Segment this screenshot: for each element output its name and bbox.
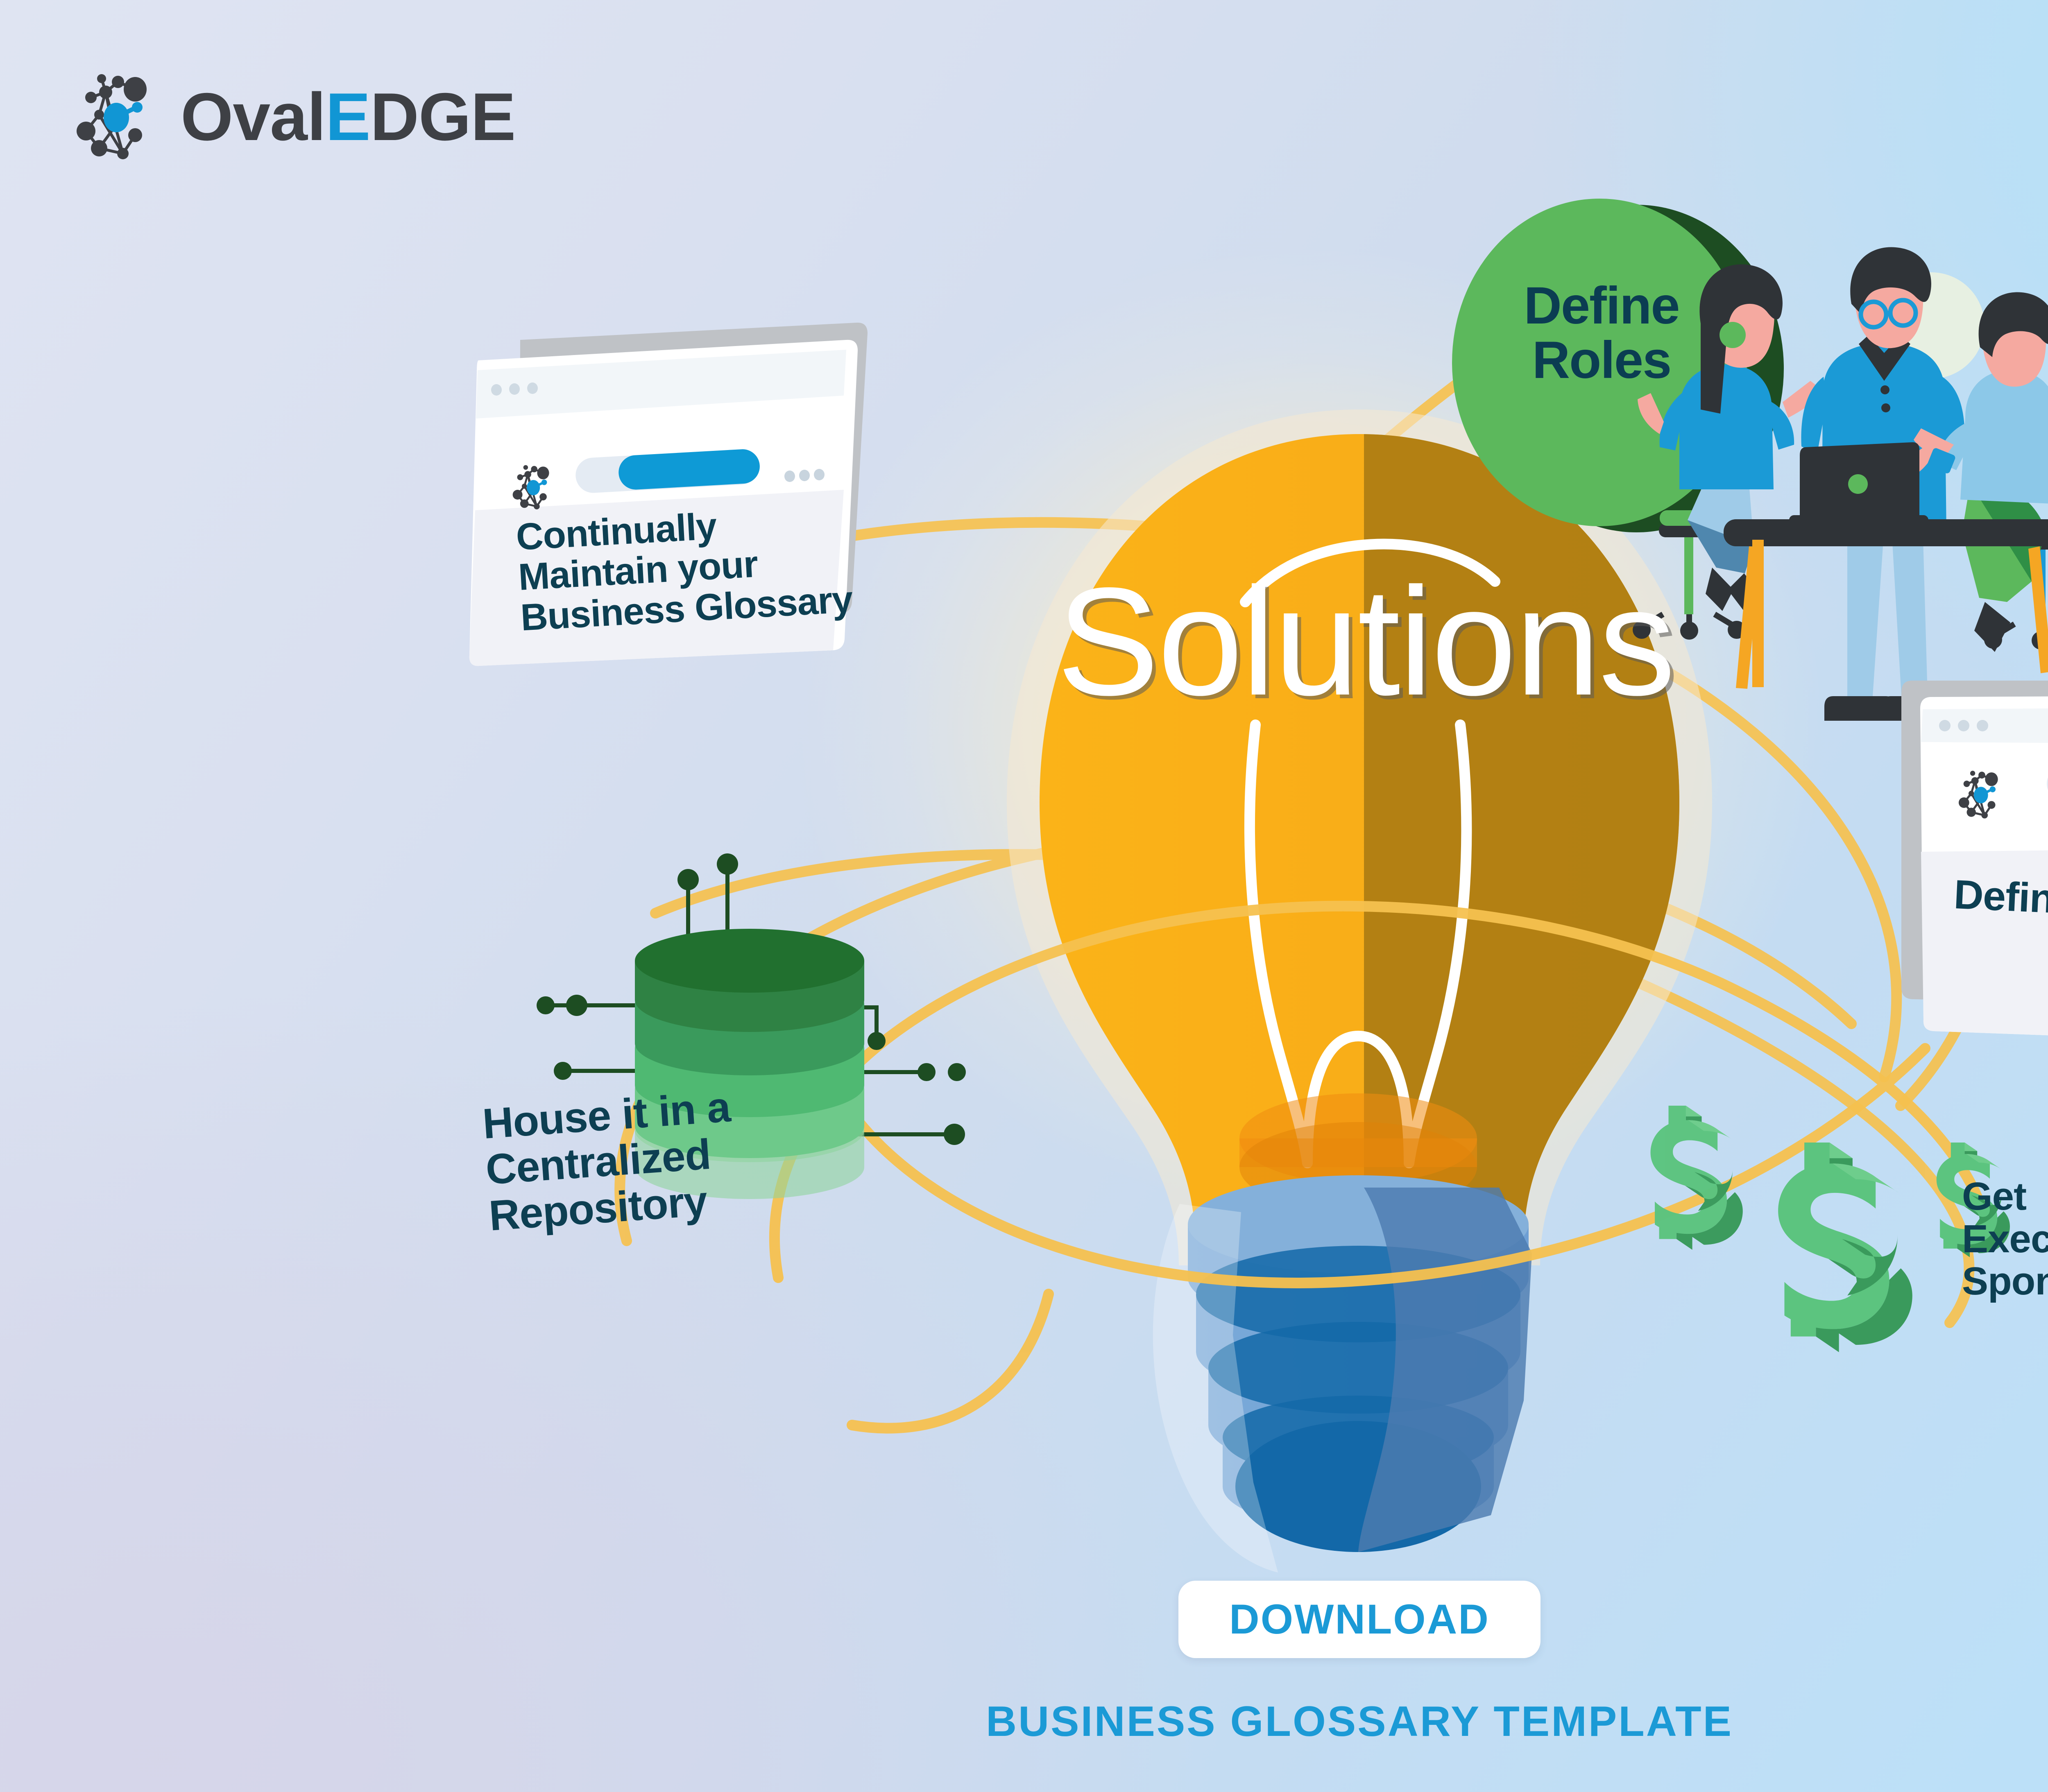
- download-button[interactable]: DOWNLOAD: [1178, 1581, 1541, 1658]
- dollar-signs-icon: [0, 0, 2048, 1792]
- hero-center-word: Solutions: [1057, 565, 1671, 719]
- cta-caption: BUSINESS GLOSSARY TEMPLATE: [986, 1697, 1733, 1746]
- cta-section: DOWNLOAD BUSINESS GLOSSARY TEMPLATE: [0, 1581, 2048, 1746]
- infographic-canvas: OvalEDGE: [0, 0, 2048, 1792]
- get-executive-sponsorship-label: Get Executive Sponsorship: [1962, 1175, 2048, 1303]
